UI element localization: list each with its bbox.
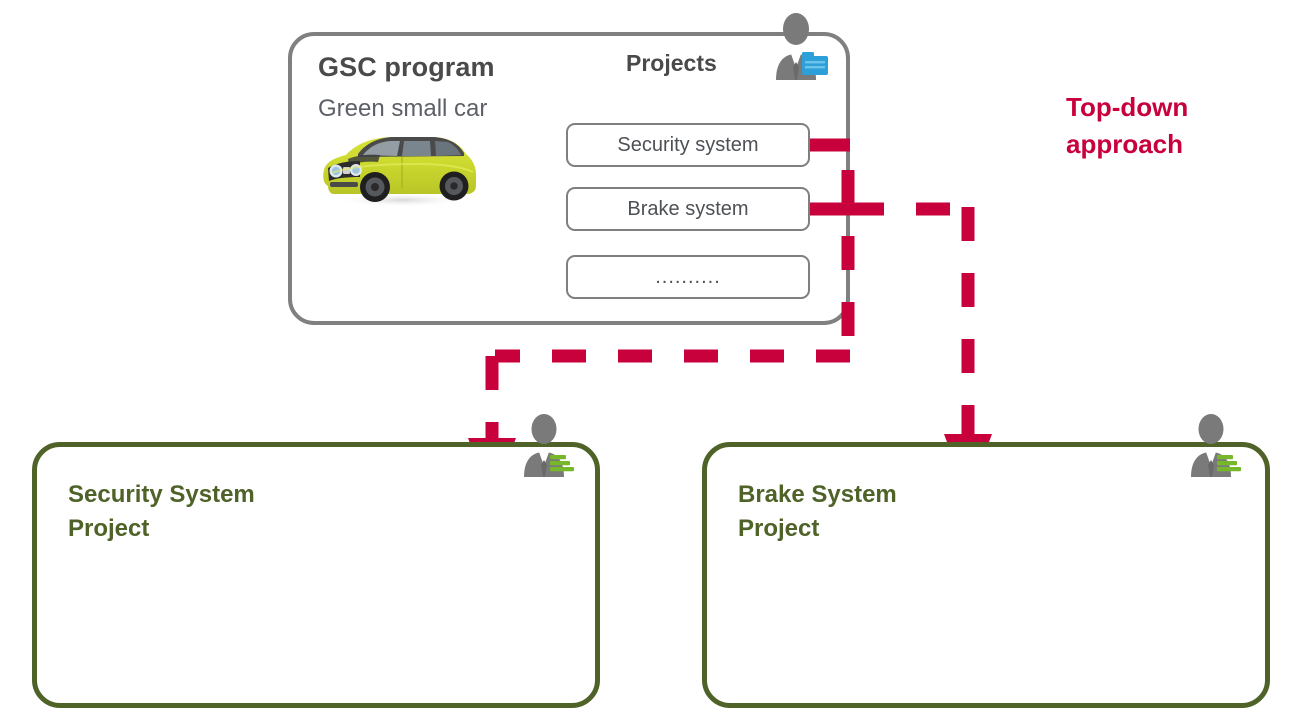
person-with-green-clipboard-icon	[1186, 413, 1244, 479]
person-with-blue-folder-icon	[770, 12, 832, 82]
program-project-item-label: Brake system	[627, 198, 748, 221]
green-small-car-image	[318, 126, 480, 210]
person-with-green-clipboard-icon	[519, 413, 577, 479]
program-project-item-label: Security system	[617, 134, 758, 157]
program-subtitle: Green small car	[318, 95, 487, 123]
diagram-canvas: GSC program Green small car Projects	[0, 0, 1301, 724]
program-project-item-brake[interactable]: Brake system	[566, 187, 810, 231]
program-project-item-more[interactable]: ..........	[566, 255, 810, 299]
approach-label: Top-down approach	[1066, 89, 1188, 163]
program-project-item-security[interactable]: Security system	[566, 123, 810, 167]
security-system-project-title: Security System Project	[68, 478, 255, 546]
program-title: GSC program	[318, 52, 495, 83]
projects-label: Projects	[626, 50, 717, 77]
brake-system-project-title: Brake System Project	[738, 478, 897, 546]
program-project-item-label: ..........	[655, 272, 721, 282]
